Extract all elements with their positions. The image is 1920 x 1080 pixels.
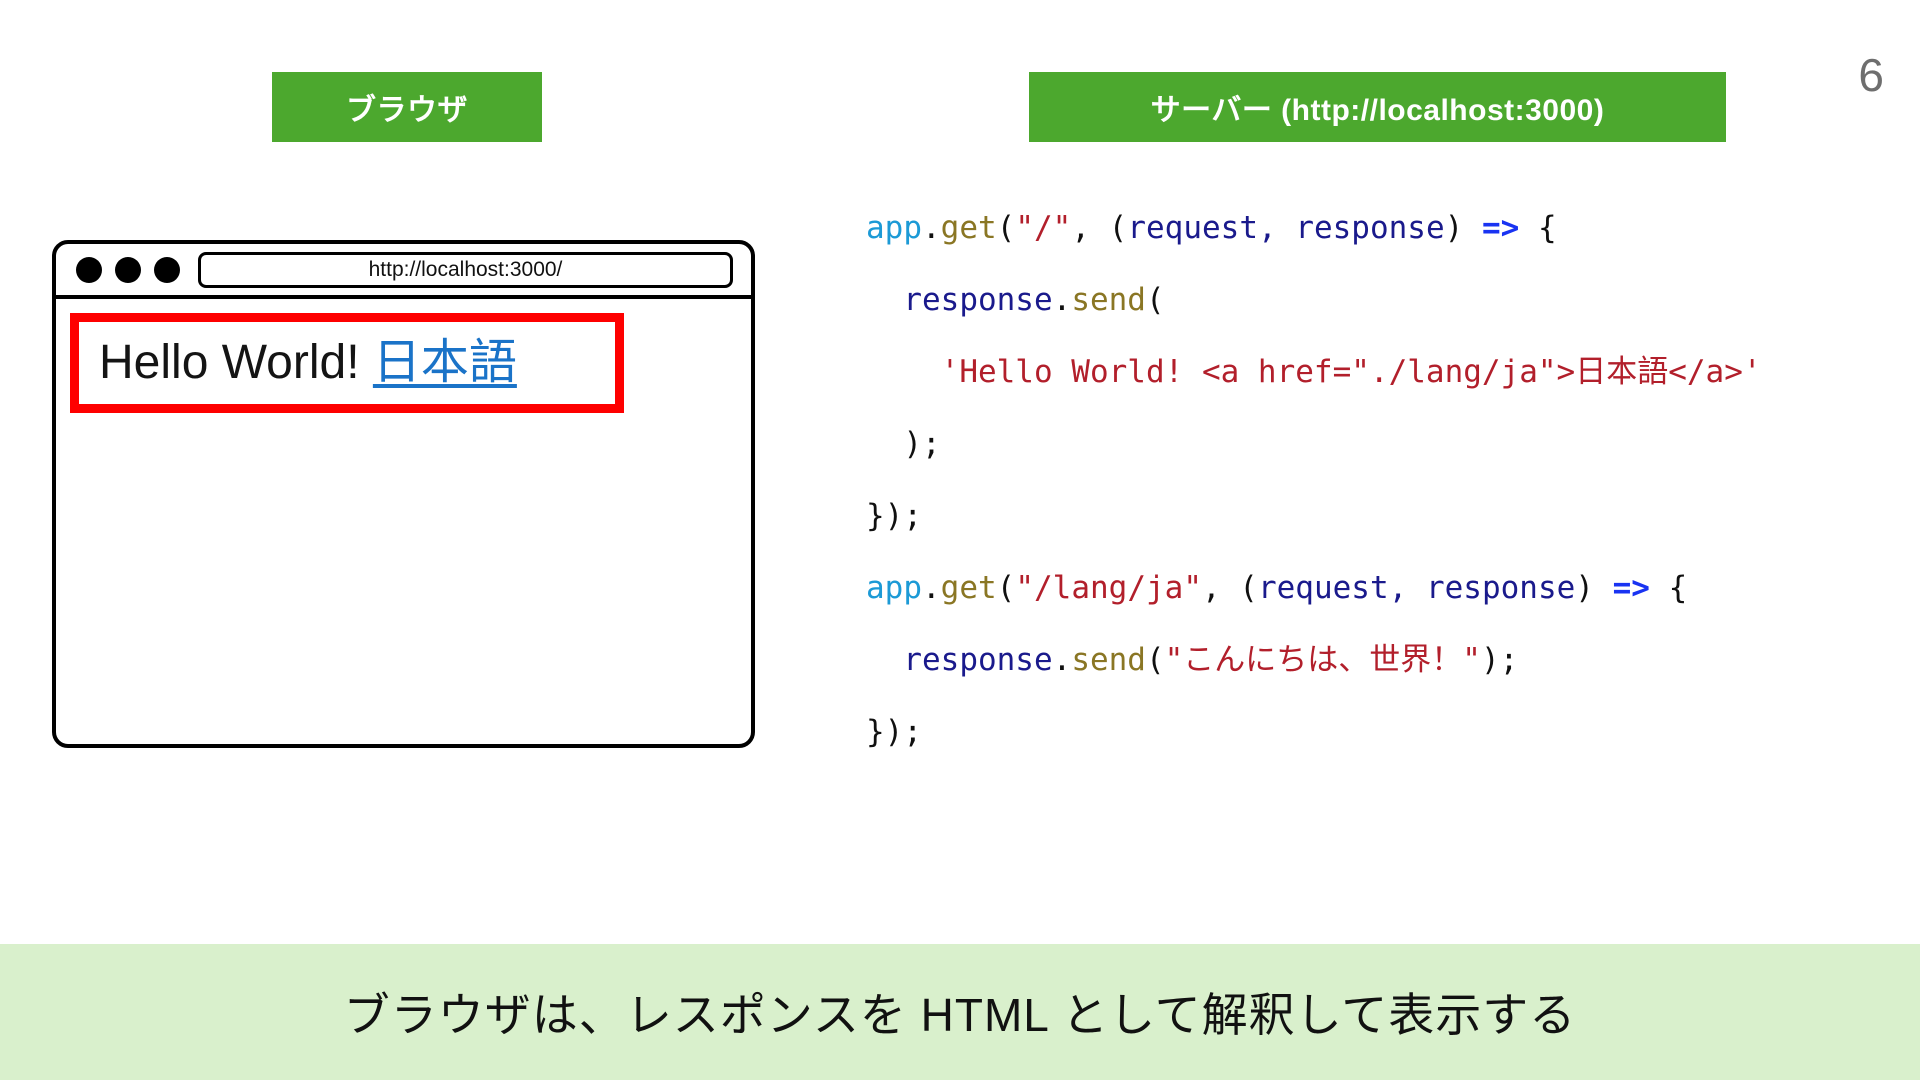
code-token-punct: (	[1146, 282, 1165, 318]
code-token-obj: app	[866, 210, 922, 246]
caption-bar: ブラウザは、レスポンスを HTML として解釈して表示する	[0, 944, 1920, 1080]
code-token-punct: .	[922, 210, 941, 246]
banner-server-label: サーバー (http://localhost:3000)	[1151, 85, 1605, 129]
close-dot-icon[interactable]	[76, 257, 102, 283]
code-line: });	[866, 696, 1762, 768]
code-token-punct: )	[1445, 210, 1482, 246]
code-indent	[866, 426, 903, 462]
code-token-punct: .	[1053, 282, 1072, 318]
rendered-page-text: Hello World!	[99, 336, 373, 389]
code-token-punct: (	[997, 570, 1016, 606]
traffic-lights	[76, 257, 180, 283]
address-bar[interactable]: http://localhost:3000/	[198, 252, 733, 288]
banner-browser: ブラウザ	[272, 72, 542, 142]
code-token-param: request, response	[1127, 210, 1444, 246]
server-code-block: app.get("/", (request, response) => { re…	[866, 192, 1762, 768]
code-token-param: response	[903, 642, 1052, 678]
code-token-punct: {	[1519, 210, 1556, 246]
code-token-str: "こんにちは、世界！"	[1165, 642, 1481, 678]
code-indent	[866, 354, 941, 390]
code-token-param: request, response	[1258, 570, 1575, 606]
code-token-punct: (	[997, 210, 1016, 246]
code-token-str: "/lang/ja"	[1015, 570, 1202, 606]
code-line: response.send("こんにちは、世界！");	[866, 624, 1762, 696]
browser-viewport: Hello World! 日本語	[56, 299, 751, 744]
rendered-page-link[interactable]: 日本語	[373, 336, 517, 389]
address-bar-url: http://localhost:3000/	[369, 258, 563, 282]
code-token-obj: app	[866, 570, 922, 606]
banner-server: サーバー (http://localhost:3000)	[1029, 72, 1726, 142]
code-indent	[866, 282, 903, 318]
browser-window-mockup: http://localhost:3000/ Hello World! 日本語	[52, 240, 755, 748]
code-token-param: response	[903, 282, 1052, 318]
code-line: app.get("/", (request, response) => {	[866, 192, 1762, 264]
code-token-arrow: =>	[1482, 210, 1519, 246]
code-line: response.send(	[866, 264, 1762, 336]
code-token-str: 'Hello World! <a href="./lang/ja">日本語</a…	[941, 354, 1762, 390]
highlight-annotation-box: Hello World! 日本語	[70, 313, 624, 413]
code-line: app.get("/lang/ja", (request, response) …	[866, 552, 1762, 624]
code-token-punct: (	[1146, 642, 1165, 678]
code-token-punct: .	[1053, 642, 1072, 678]
code-token-punct: );	[1481, 642, 1518, 678]
code-token-punct: , (	[1071, 210, 1127, 246]
code-token-fn: send	[1071, 282, 1146, 318]
code-line: 'Hello World! <a href="./lang/ja">日本語</a…	[866, 336, 1762, 408]
code-token-punct: });	[866, 498, 922, 534]
code-token-punct: {	[1650, 570, 1687, 606]
code-line: );	[866, 408, 1762, 480]
code-token-fn: get	[941, 570, 997, 606]
caption-text: ブラウザは、レスポンスを HTML として解釈して表示する	[344, 979, 1576, 1045]
code-token-fn: get	[941, 210, 997, 246]
maximize-dot-icon[interactable]	[154, 257, 180, 283]
code-token-punct: )	[1575, 570, 1612, 606]
code-indent	[866, 642, 903, 678]
code-token-punct: );	[903, 426, 940, 462]
code-token-punct: });	[866, 714, 922, 750]
code-token-punct: , (	[1202, 570, 1258, 606]
code-token-fn: send	[1071, 642, 1146, 678]
banner-browser-label: ブラウザ	[346, 85, 468, 129]
browser-chrome: http://localhost:3000/	[56, 244, 751, 299]
code-token-str: "/"	[1015, 210, 1071, 246]
page-number: 6	[1858, 52, 1884, 98]
code-token-arrow: =>	[1613, 570, 1650, 606]
rendered-page-content: Hello World! 日本語	[99, 339, 517, 387]
minimize-dot-icon[interactable]	[115, 257, 141, 283]
code-line: });	[866, 480, 1762, 552]
code-token-punct: .	[922, 570, 941, 606]
